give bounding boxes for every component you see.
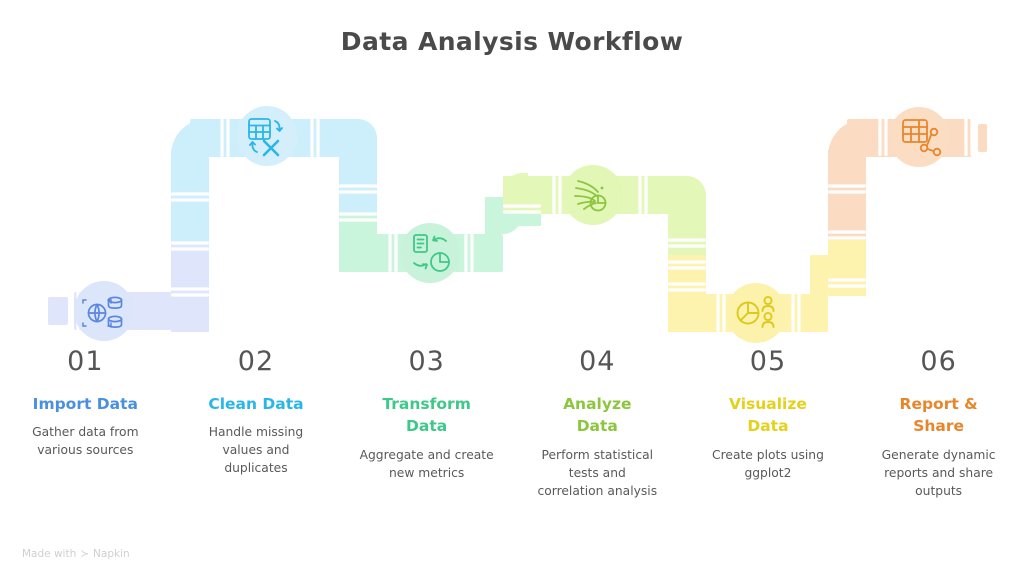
step-title: Transform Data (372, 393, 482, 438)
step-item-05[interactable]: 05 Visualize Data Create plots using ggp… (683, 348, 854, 548)
step-title: Import Data (33, 393, 138, 415)
step-number: 06 (920, 348, 956, 375)
node-badge-05[interactable] (726, 283, 786, 343)
step-item-04[interactable]: 04 Analyze Data Perform statistical test… (512, 348, 683, 548)
pipeline-diagram (0, 0, 1024, 350)
step-item-01[interactable]: 01 Import Data Gather data from various … (0, 348, 171, 548)
step-description: Generate dynamic reports and share outpu… (873, 447, 1005, 500)
step-number: 05 (750, 348, 786, 375)
node-badge-06[interactable] (889, 107, 949, 167)
node-badge-04[interactable] (563, 165, 623, 225)
step-list: 01 Import Data Gather data from various … (0, 348, 1024, 548)
step-description: Aggregate and create new metrics (353, 447, 501, 483)
step-title: Visualize Data (722, 393, 814, 438)
step-number: 04 (579, 348, 615, 375)
node-badge-03[interactable] (400, 223, 460, 283)
step-number: 01 (67, 348, 103, 375)
step-description: Perform statistical tests and correlatio… (536, 447, 658, 500)
step-item-06[interactable]: 06 Report & Share Generate dynamic repor… (853, 348, 1024, 548)
watermark-prefix: Made with (22, 548, 76, 560)
step-item-03[interactable]: 03 Transform Data Aggregate and create n… (341, 348, 512, 548)
step-description: Handle missing values and duplicates (197, 424, 315, 477)
step-number: 03 (408, 348, 444, 375)
napkin-logo-icon: ≻ (80, 548, 89, 560)
node-badge-02[interactable] (237, 106, 297, 166)
step-title: Report & Share (889, 393, 989, 438)
step-title: Analyze Data (551, 393, 643, 438)
step-description: Create plots using ggplot2 (698, 447, 838, 483)
napkin-watermark: Made with ≻ Napkin (22, 548, 130, 560)
step-title: Clean Data (208, 393, 303, 415)
step-description: Gather data from various sources (10, 424, 160, 460)
node-badge-01[interactable] (74, 281, 134, 341)
step-number: 02 (238, 348, 274, 375)
step-item-02[interactable]: 02 Clean Data Handle missing values and … (171, 348, 342, 548)
watermark-brand: Napkin (93, 548, 130, 560)
